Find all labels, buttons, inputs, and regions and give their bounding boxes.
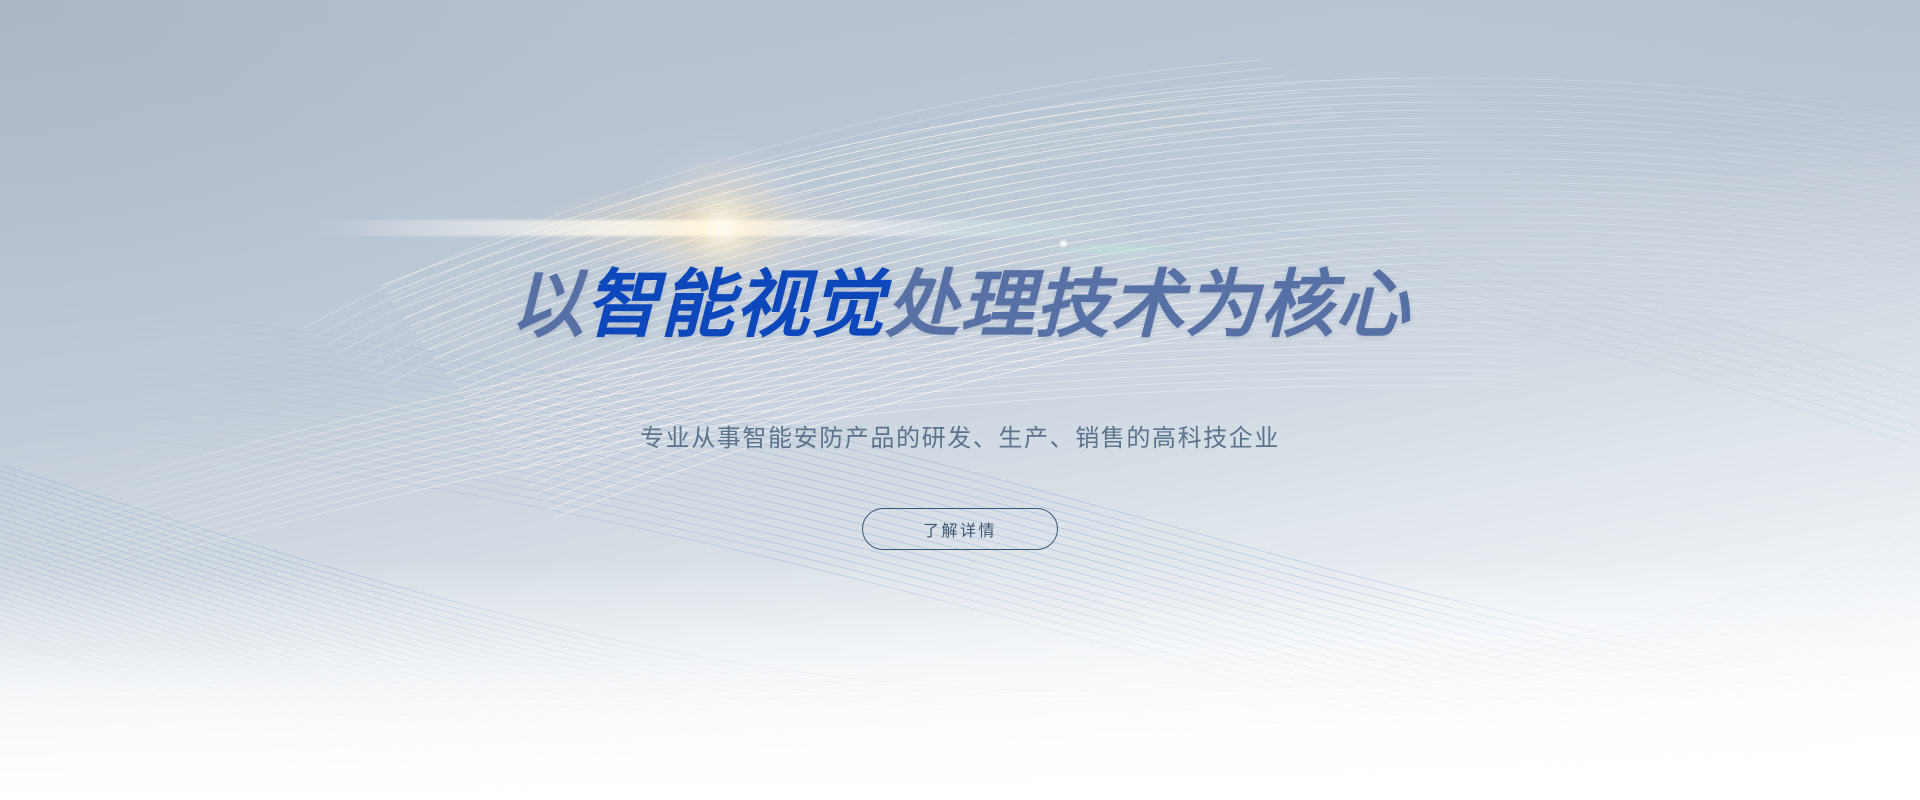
headline-segment-1: 以: [510, 262, 585, 348]
wave-family-mid: [0, 300, 1920, 800]
wave-family-upper-diagonal: [300, 60, 1344, 386]
wave-family-lower: [0, 452, 1920, 800]
background-vignette-right: [1152, 0, 1920, 384]
wave-family-right-far: [1120, 206, 1920, 460]
lens-flare-dot: [1060, 240, 1067, 247]
wave-family-left-crest: [0, 298, 1520, 608]
wave-family-upper-right: [380, 78, 1920, 518]
lens-flare-warm-glow: [535, 187, 865, 265]
wave-family-bottom-sheet: [0, 640, 1920, 800]
lens-flare-ghost: [1040, 245, 1190, 255]
background-vignette-left: [0, 0, 883, 496]
headline-segment-2: 智能视觉: [585, 262, 885, 348]
page-subtitle: 专业从事智能安防产品的研发、生产、销售的高科技企业: [0, 418, 1920, 453]
page-title: 以智能视觉处理技术为核心: [0, 266, 1920, 346]
learn-more-button[interactable]: 了解详情: [862, 508, 1058, 550]
lens-flare-streak: [312, 220, 1132, 236]
flowing-line-wave-mesh: [0, 0, 1920, 800]
hero-banner: 以智能视觉处理技术为核心 专业从事智能安防产品的研发、生产、销售的高科技企业 了…: [0, 0, 1920, 800]
lens-flare-core: [627, 133, 817, 323]
background-bottom-fade: [0, 560, 1920, 800]
cta-container: 了解详情: [0, 508, 1920, 550]
headline-segment-3: 处理技术为核心: [885, 262, 1410, 348]
